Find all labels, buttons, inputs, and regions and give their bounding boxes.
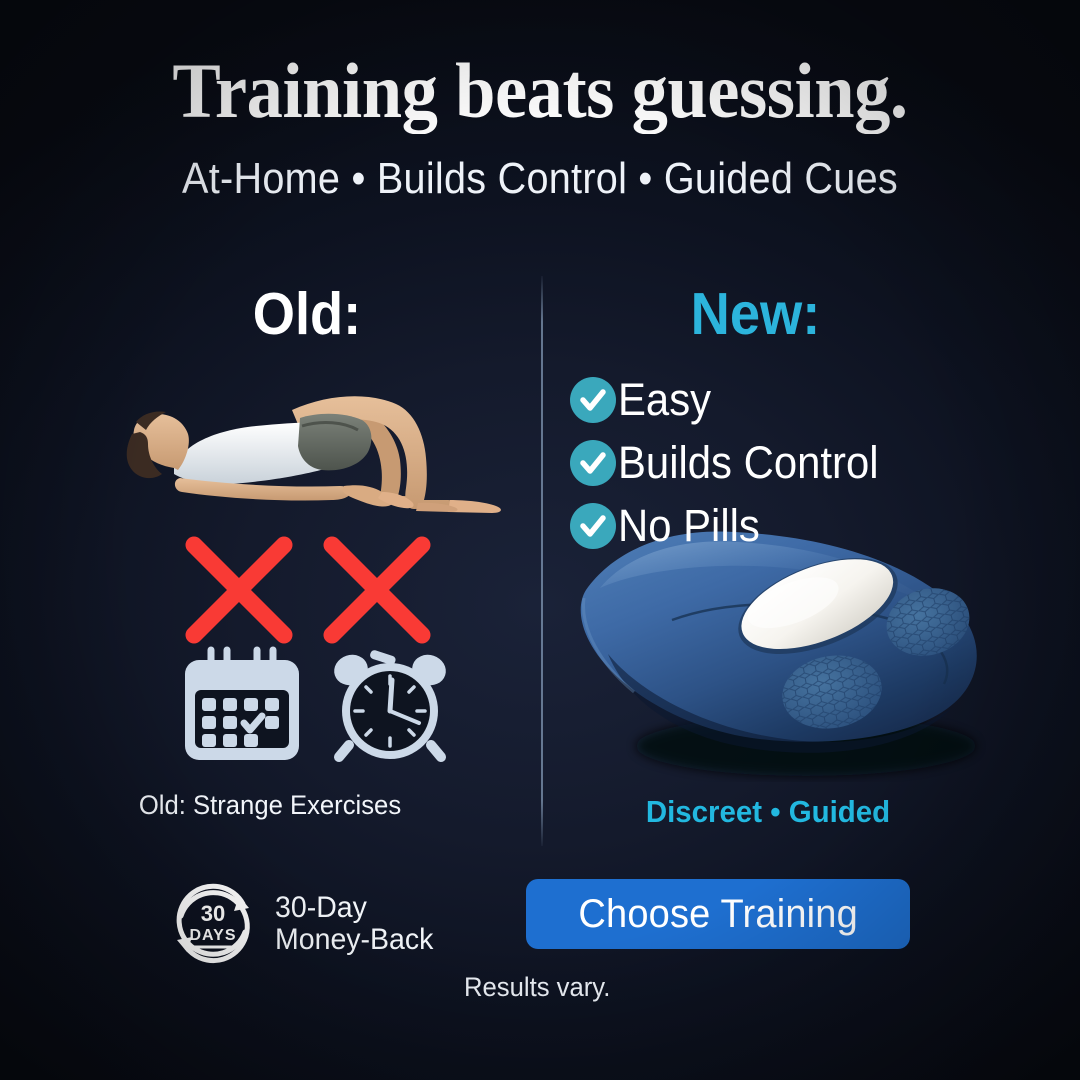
headline: Training beats guessing. — [38, 52, 1042, 130]
disclaimer-text: Results vary. — [464, 972, 610, 1003]
check-circle-icon — [570, 503, 616, 549]
product-tagline: Discreet • Guided — [567, 794, 970, 830]
choose-training-button[interactable]: Choose Training — [526, 879, 910, 949]
guarantee-text: 30-Day Money-Back — [275, 892, 433, 957]
new-column-heading: New: — [691, 285, 821, 344]
guarantee-line-2: Money-Back — [275, 924, 433, 956]
benefits-list: Easy Builds Control No Pills — [570, 368, 990, 557]
alarm-clock-icon — [327, 645, 453, 767]
column-divider — [541, 276, 543, 846]
check-circle-icon — [570, 377, 616, 423]
glute-bridge-exercise-photo — [96, 382, 526, 522]
list-item: No Pills — [570, 494, 990, 557]
list-item: Easy — [570, 368, 990, 431]
svg-text:30: 30 — [201, 901, 225, 926]
old-column-caption: Old: Strange Exercises — [14, 790, 527, 821]
subheadline: At-Home • Builds Control • Guided Cues — [54, 157, 1026, 201]
cta-label: Choose Training — [578, 894, 858, 934]
old-column-heading: Old: — [253, 285, 362, 344]
guarantee-line-1: 30-Day — [275, 892, 433, 924]
check-circle-icon — [570, 440, 616, 486]
benefit-label: Builds Control — [618, 440, 879, 485]
thirty-day-badge-icon: 30 DAYS — [165, 876, 261, 972]
benefit-label: No Pills — [618, 503, 760, 548]
benefit-label: Easy — [618, 377, 711, 422]
money-back-guarantee: 30 DAYS 30-Day Money-Back — [165, 876, 442, 972]
advertisement-creative: Training beats guessing. At-Home • Build… — [0, 0, 1080, 1080]
calendar-icon — [181, 646, 303, 764]
x-marks-group — [180, 535, 440, 645]
svg-text:DAYS: DAYS — [190, 927, 237, 944]
list-item: Builds Control — [570, 431, 990, 494]
